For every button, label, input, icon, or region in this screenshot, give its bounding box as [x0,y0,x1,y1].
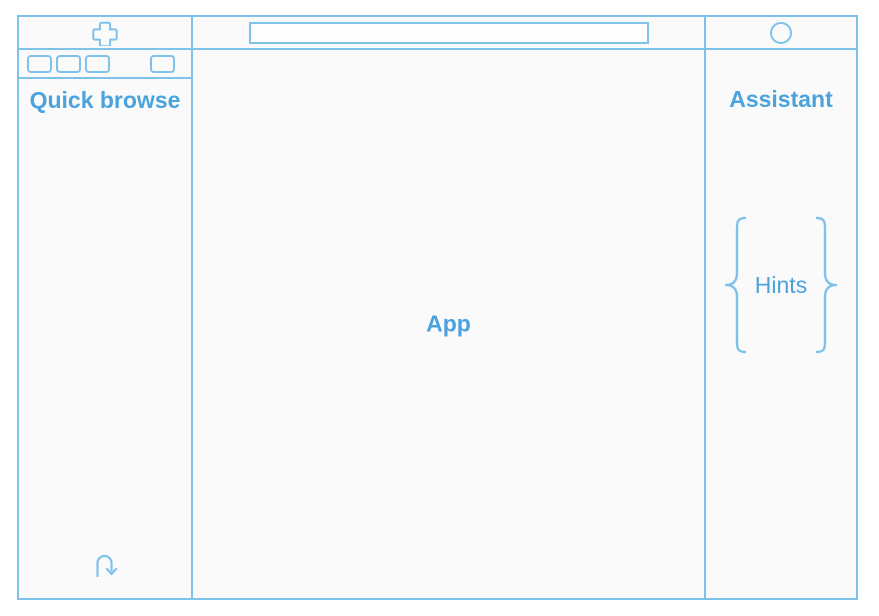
toolbar-button-2[interactable] [56,55,81,73]
sidebar-title: Quick browse [19,86,191,115]
app-content-area: App [191,50,706,598]
quick-browse-sidebar: Quick browse [19,50,191,598]
top-bar [19,17,856,50]
account-button[interactable] [706,17,856,48]
hints-label: Hints [749,272,813,299]
u-turn-arrow-icon [88,549,122,588]
toolbar-button-3[interactable] [85,55,110,73]
hints-group: Hints [706,210,856,360]
avatar-circle-icon [770,22,792,44]
plus-icon [92,20,118,46]
window-body: Quick browse App Assistant [19,50,856,598]
assistant-title: Assistant [706,86,856,113]
app-label: App [193,311,704,338]
address-bar-cell [191,17,706,48]
sidebar-footer[interactable] [19,549,191,588]
close-brace-icon [813,215,839,355]
address-input[interactable] [249,22,649,44]
wireframe-canvas: Quick browse App Assistant [0,0,879,616]
open-brace-icon [723,215,749,355]
sidebar-toolbar [19,50,191,79]
assistant-panel: Assistant Hints [706,50,856,598]
toolbar-button-4[interactable] [150,55,175,73]
new-tab-button[interactable] [19,17,191,48]
browser-window-frame: Quick browse App Assistant [17,15,858,600]
toolbar-button-1[interactable] [27,55,52,73]
